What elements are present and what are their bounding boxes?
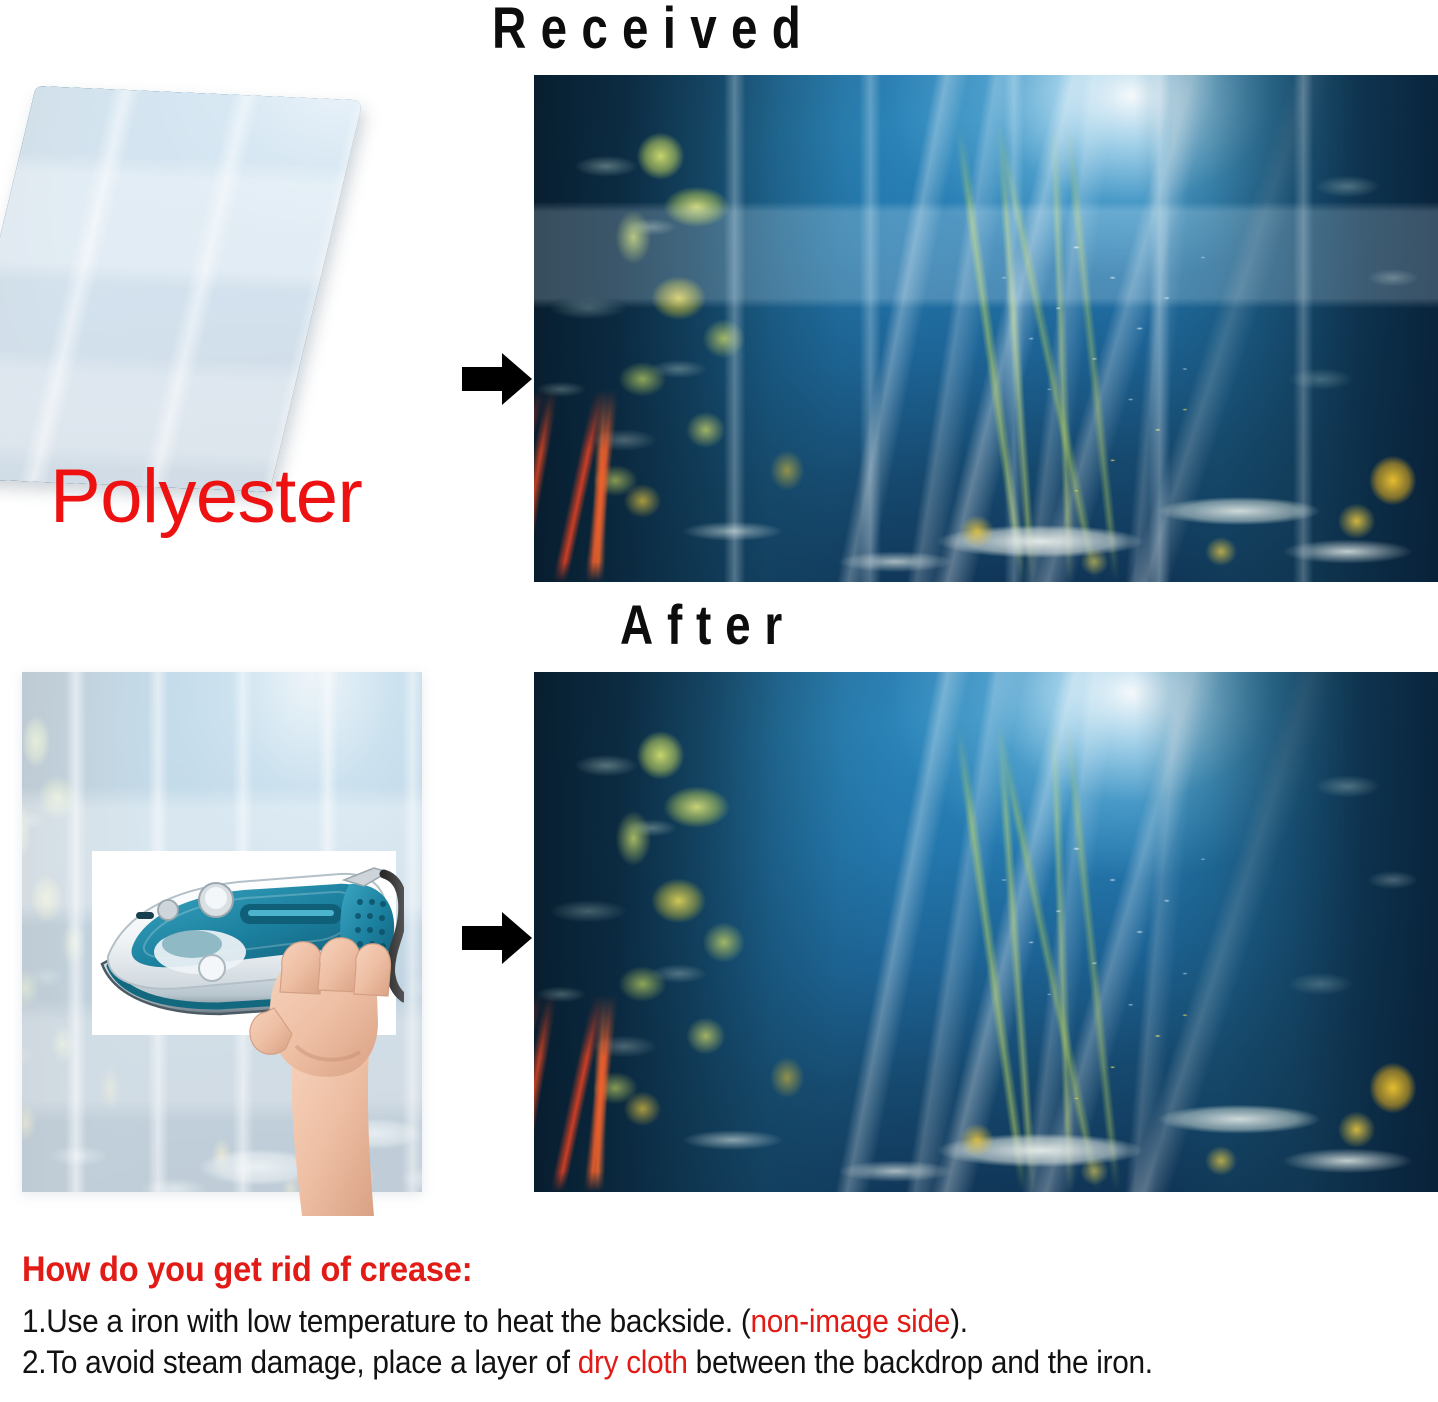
right-arrow-icon-bottom xyxy=(462,912,534,964)
folded-polyester-sheet-image xyxy=(14,84,444,494)
arrow-head xyxy=(502,912,532,964)
arrow-shaft xyxy=(462,926,506,950)
iron-nose-slot xyxy=(136,912,154,919)
instructions-block: How do you get rid of crease: 1.Use a ir… xyxy=(22,1250,1432,1384)
iron-body-window-shadow xyxy=(162,930,222,958)
folded-sheet-artwork xyxy=(0,86,363,492)
step1-prefix: 1.Use a iron with low temperature to hea… xyxy=(22,1303,750,1339)
crease-layer xyxy=(534,75,1438,582)
step1-highlight: non-image side xyxy=(750,1303,950,1339)
iron-spray-button[interactable] xyxy=(158,900,178,920)
arrow-shaft xyxy=(462,367,506,391)
received-backdrop-image xyxy=(534,75,1438,582)
sponge-layer xyxy=(534,672,1438,1192)
after-backdrop-image xyxy=(534,672,1438,1192)
step1-suffix: ). xyxy=(950,1303,968,1339)
iron-temperature-dial[interactable] xyxy=(199,955,225,981)
received-section-title: Received xyxy=(492,0,815,58)
polyester-material-label: Polyester xyxy=(50,459,362,535)
after-section-title: After xyxy=(620,597,796,653)
folded-sheet-body xyxy=(0,86,363,492)
step2-highlight: dry cloth xyxy=(578,1344,688,1380)
folded-sheet-reef-print xyxy=(0,86,363,492)
step2-suffix: between the backdrop and the iron. xyxy=(688,1344,1153,1380)
instructions-heading: How do you get rid of crease: xyxy=(22,1250,1333,1291)
finger-middle xyxy=(318,938,360,992)
arrow-head xyxy=(502,353,532,405)
instruction-step-2: 2.To avoid steam damage, place a layer o… xyxy=(22,1342,1333,1384)
finger-index xyxy=(280,942,322,994)
step2-prefix: 2.To avoid steam damage, place a layer o… xyxy=(22,1344,578,1380)
finger-ring xyxy=(354,944,390,996)
right-arrow-icon-top xyxy=(462,353,534,405)
hand-icon xyxy=(236,916,416,1216)
iron-steam-knob-top xyxy=(205,887,227,909)
instruction-step-1: 1.Use a iron with low temperature to hea… xyxy=(22,1301,1333,1343)
crease-layer xyxy=(0,86,363,492)
